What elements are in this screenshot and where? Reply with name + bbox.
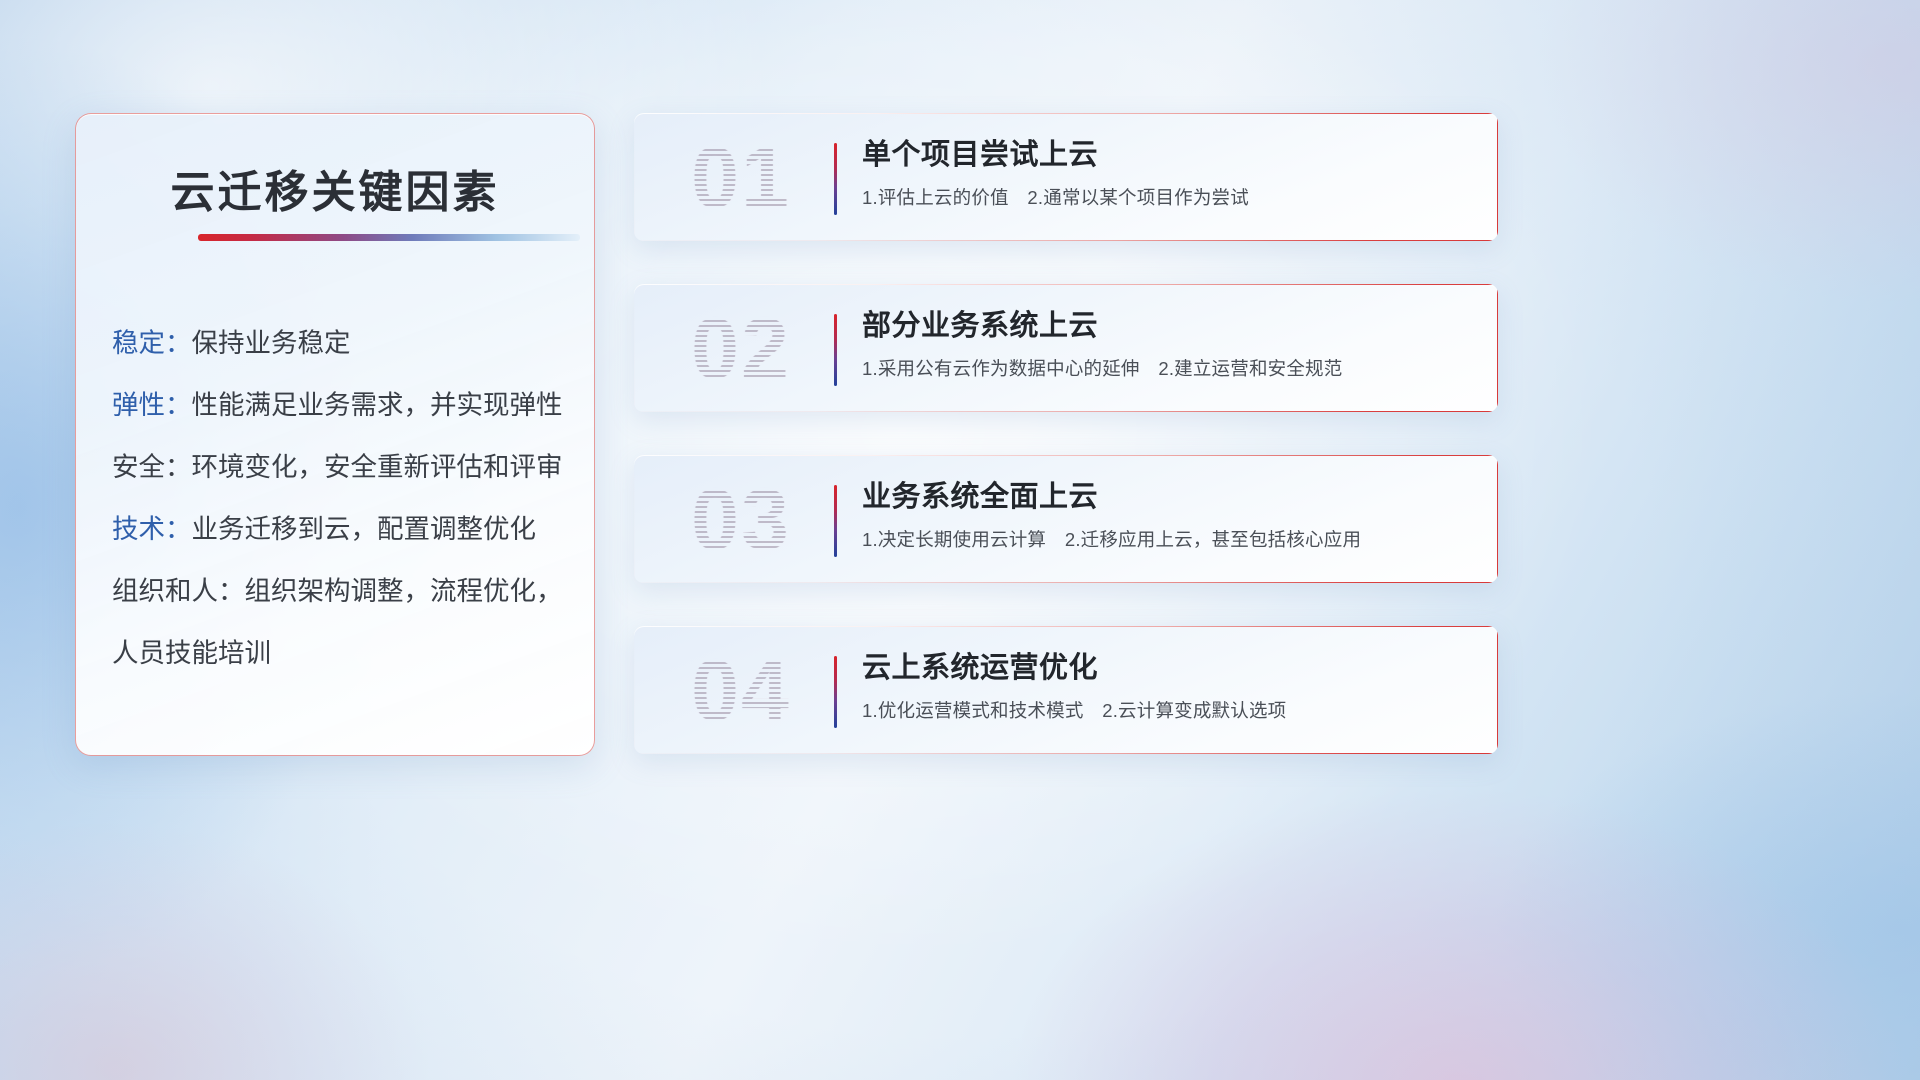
stage-card[interactable]: 02部分业务系统上云1.采用公有云作为数据中心的延伸 2.建立运营和安全规范 bbox=[634, 284, 1498, 412]
stage-subtitle: 1.采用公有云作为数据中心的延伸 2.建立运营和安全规范 bbox=[862, 355, 1472, 381]
key-factor-text: 保持业务稳定 bbox=[192, 330, 351, 357]
stage-title: 单个项目尝试上云 bbox=[862, 137, 1472, 173]
stage-card-body: 单个项目尝试上云1.评估上云的价值 2.通常以某个项目作为尝试 bbox=[862, 137, 1472, 210]
key-factor-item: 弹性：性能满足业务需求，并实现弹性 bbox=[112, 374, 574, 436]
stage-number: 02 bbox=[652, 290, 830, 408]
key-factor-label: 技术： bbox=[112, 516, 192, 543]
key-factors-panel: 云迁移关键因素 稳定：保持业务稳定弹性：性能满足业务需求，并实现弹性安全：环境变… bbox=[75, 113, 595, 756]
stage-card-body: 云上系统运营优化1.优化运营模式和技术模式 2.云计算变成默认选项 bbox=[862, 650, 1472, 723]
key-factor-label: 弹性： bbox=[112, 392, 192, 419]
stage-number: 04 bbox=[652, 632, 830, 750]
stage-card[interactable]: 03业务系统全面上云1.决定长期使用云计算 2.迁移应用上云，甚至包括核心应用 bbox=[634, 455, 1498, 583]
key-factor-text: 人员技能培训 bbox=[112, 640, 271, 667]
key-factor-item: 技术：业务迁移到云，配置调整优化 bbox=[112, 498, 574, 560]
stage-card-body: 业务系统全面上云1.决定长期使用云计算 2.迁移应用上云，甚至包括核心应用 bbox=[862, 479, 1472, 552]
key-factor-item: 组织和人：组织架构调整，流程优化， bbox=[112, 560, 574, 622]
stage-divider-bar bbox=[834, 656, 837, 728]
stage-title: 云上系统运营优化 bbox=[862, 650, 1472, 686]
stage-subtitle: 1.决定长期使用云计算 2.迁移应用上云，甚至包括核心应用 bbox=[862, 526, 1472, 552]
title-underline-rule bbox=[198, 234, 580, 241]
key-factor-label: 组织和人： bbox=[112, 578, 245, 605]
key-factor-item: 稳定：保持业务稳定 bbox=[112, 312, 574, 374]
stage-card-body: 部分业务系统上云1.采用公有云作为数据中心的延伸 2.建立运营和安全规范 bbox=[862, 308, 1472, 381]
stage-number: 01 bbox=[652, 119, 830, 237]
key-factor-text: 环境变化，安全重新评估和评审 bbox=[192, 454, 563, 481]
key-factor-text: 业务迁移到云，配置调整优化 bbox=[192, 516, 537, 543]
stage-divider-bar bbox=[834, 485, 837, 557]
key-factors-list: 稳定：保持业务稳定弹性：性能满足业务需求，并实现弹性安全：环境变化，安全重新评估… bbox=[112, 312, 574, 684]
stage-card[interactable]: 01单个项目尝试上云1.评估上云的价值 2.通常以某个项目作为尝试 bbox=[634, 113, 1498, 241]
stage-title: 业务系统全面上云 bbox=[862, 479, 1472, 515]
key-factor-text: 性能满足业务需求，并实现弹性 bbox=[192, 392, 563, 419]
stage-title: 部分业务系统上云 bbox=[862, 308, 1472, 344]
key-factor-text: 组织架构调整，流程优化， bbox=[245, 578, 563, 605]
stage-card[interactable]: 04云上系统运营优化1.优化运营模式和技术模式 2.云计算变成默认选项 bbox=[634, 626, 1498, 754]
stage-divider-bar bbox=[834, 143, 837, 215]
stage-number: 03 bbox=[652, 461, 830, 579]
page-title: 云迁移关键因素 bbox=[76, 156, 594, 220]
key-factor-item: 人员技能培训 bbox=[112, 622, 574, 684]
cloud-migration-stages-list: 01单个项目尝试上云1.评估上云的价值 2.通常以某个项目作为尝试02部分业务系… bbox=[634, 113, 1498, 754]
stage-subtitle: 1.优化运营模式和技术模式 2.云计算变成默认选项 bbox=[862, 697, 1472, 723]
stage-divider-bar bbox=[834, 314, 837, 386]
key-factor-label: 安全： bbox=[112, 454, 192, 481]
key-factor-item: 安全：环境变化，安全重新评估和评审 bbox=[112, 436, 574, 498]
key-factor-label: 稳定： bbox=[112, 330, 192, 357]
stage-subtitle: 1.评估上云的价值 2.通常以某个项目作为尝试 bbox=[862, 184, 1472, 210]
